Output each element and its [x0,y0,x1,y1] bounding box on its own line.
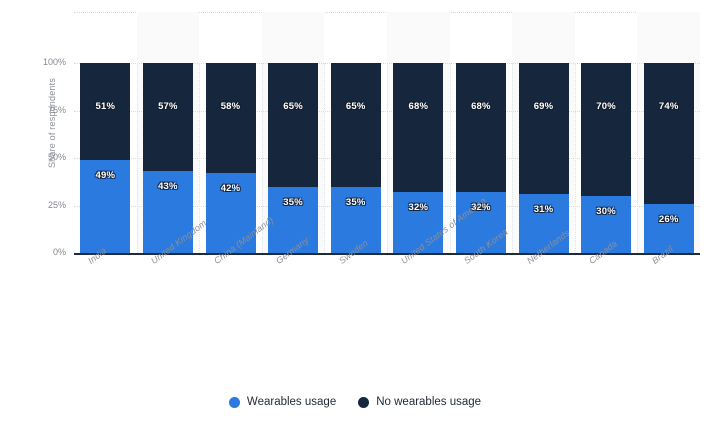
bar-group[interactable]: 68%32% [456,63,506,253]
bar-group[interactable]: 70%30% [581,63,631,253]
bar-segment-no-wearables[interactable]: 51% [80,63,130,160]
legend-item[interactable]: Wearables usage [229,396,336,408]
gridline-vertical [324,63,325,253]
legend-color-swatch-icon [358,397,369,408]
bar-group[interactable]: 69%31% [519,63,569,253]
legend-color-swatch-icon [229,397,240,408]
stacked-bar-chart: Share of respondents 100%75%50%25%0% 51%… [0,0,710,438]
bar-value-label: 43% [158,181,178,192]
bar-value-label: 58% [221,101,241,112]
bar-segment-no-wearables[interactable]: 69% [519,63,569,194]
bar-value-label: 30% [596,206,616,217]
gridline-vertical [575,63,576,253]
bar-group[interactable]: 58%42% [206,63,256,253]
legend-item[interactable]: No wearables usage [358,396,481,408]
bar-segment-wearables[interactable]: 49% [80,160,130,253]
bar-group[interactable]: 51%49% [80,63,130,253]
bar-value-label: 69% [534,101,554,112]
bar-value-label: 65% [283,101,303,112]
gridline-vertical [512,63,513,253]
bar-value-label: 31% [534,204,554,215]
bar-value-label: 35% [283,197,303,208]
bar-value-label: 74% [659,101,679,112]
bar-group[interactable]: 74%26% [644,63,694,253]
plot-area: 51%49%57%43%58%42%65%35%65%35%68%32%68%3… [74,63,700,253]
bar-value-label: 68% [408,101,428,112]
bar-value-label: 65% [346,101,366,112]
legend-label: No wearables usage [376,396,481,408]
bar-value-label: 51% [95,101,115,112]
y-axis-tick-label: 75% [20,105,66,115]
bar-segment-no-wearables[interactable]: 65% [268,63,318,187]
bar-value-label: 32% [408,202,428,213]
bar-segment-no-wearables[interactable]: 65% [331,63,381,187]
gridline-vertical [387,63,388,253]
bar-value-label: 42% [221,183,241,194]
gridline-vertical [137,63,138,253]
chart-legend: Wearables usageNo wearables usage [0,396,710,408]
bar-value-label: 26% [659,214,679,225]
bar-group[interactable]: 57%43% [143,63,193,253]
bar-segment-no-wearables[interactable]: 70% [581,63,631,196]
gridline-vertical [637,63,638,253]
bar-segment-no-wearables[interactable]: 57% [143,63,193,171]
bar-segment-no-wearables[interactable]: 58% [206,63,256,173]
bar-value-label: 68% [471,101,491,112]
y-axis-tick-label: 100% [20,57,66,67]
bar-segment-no-wearables[interactable]: 68% [456,63,506,192]
bar-group[interactable]: 65%35% [268,63,318,253]
bar-segment-no-wearables[interactable]: 74% [644,63,694,204]
bar-value-label: 35% [346,197,366,208]
y-axis-tick-label: 25% [20,200,66,210]
y-axis-tick-label: 50% [20,152,66,162]
bar-group[interactable]: 68%32% [393,63,443,253]
bar-value-label: 70% [596,101,616,112]
legend-label: Wearables usage [247,396,336,408]
y-axis-tick-label: 0% [20,247,66,257]
bar-group[interactable]: 65%35% [331,63,381,253]
bar-segment-no-wearables[interactable]: 68% [393,63,443,192]
bar-value-label: 57% [158,101,178,112]
bar-value-label: 49% [95,170,115,181]
